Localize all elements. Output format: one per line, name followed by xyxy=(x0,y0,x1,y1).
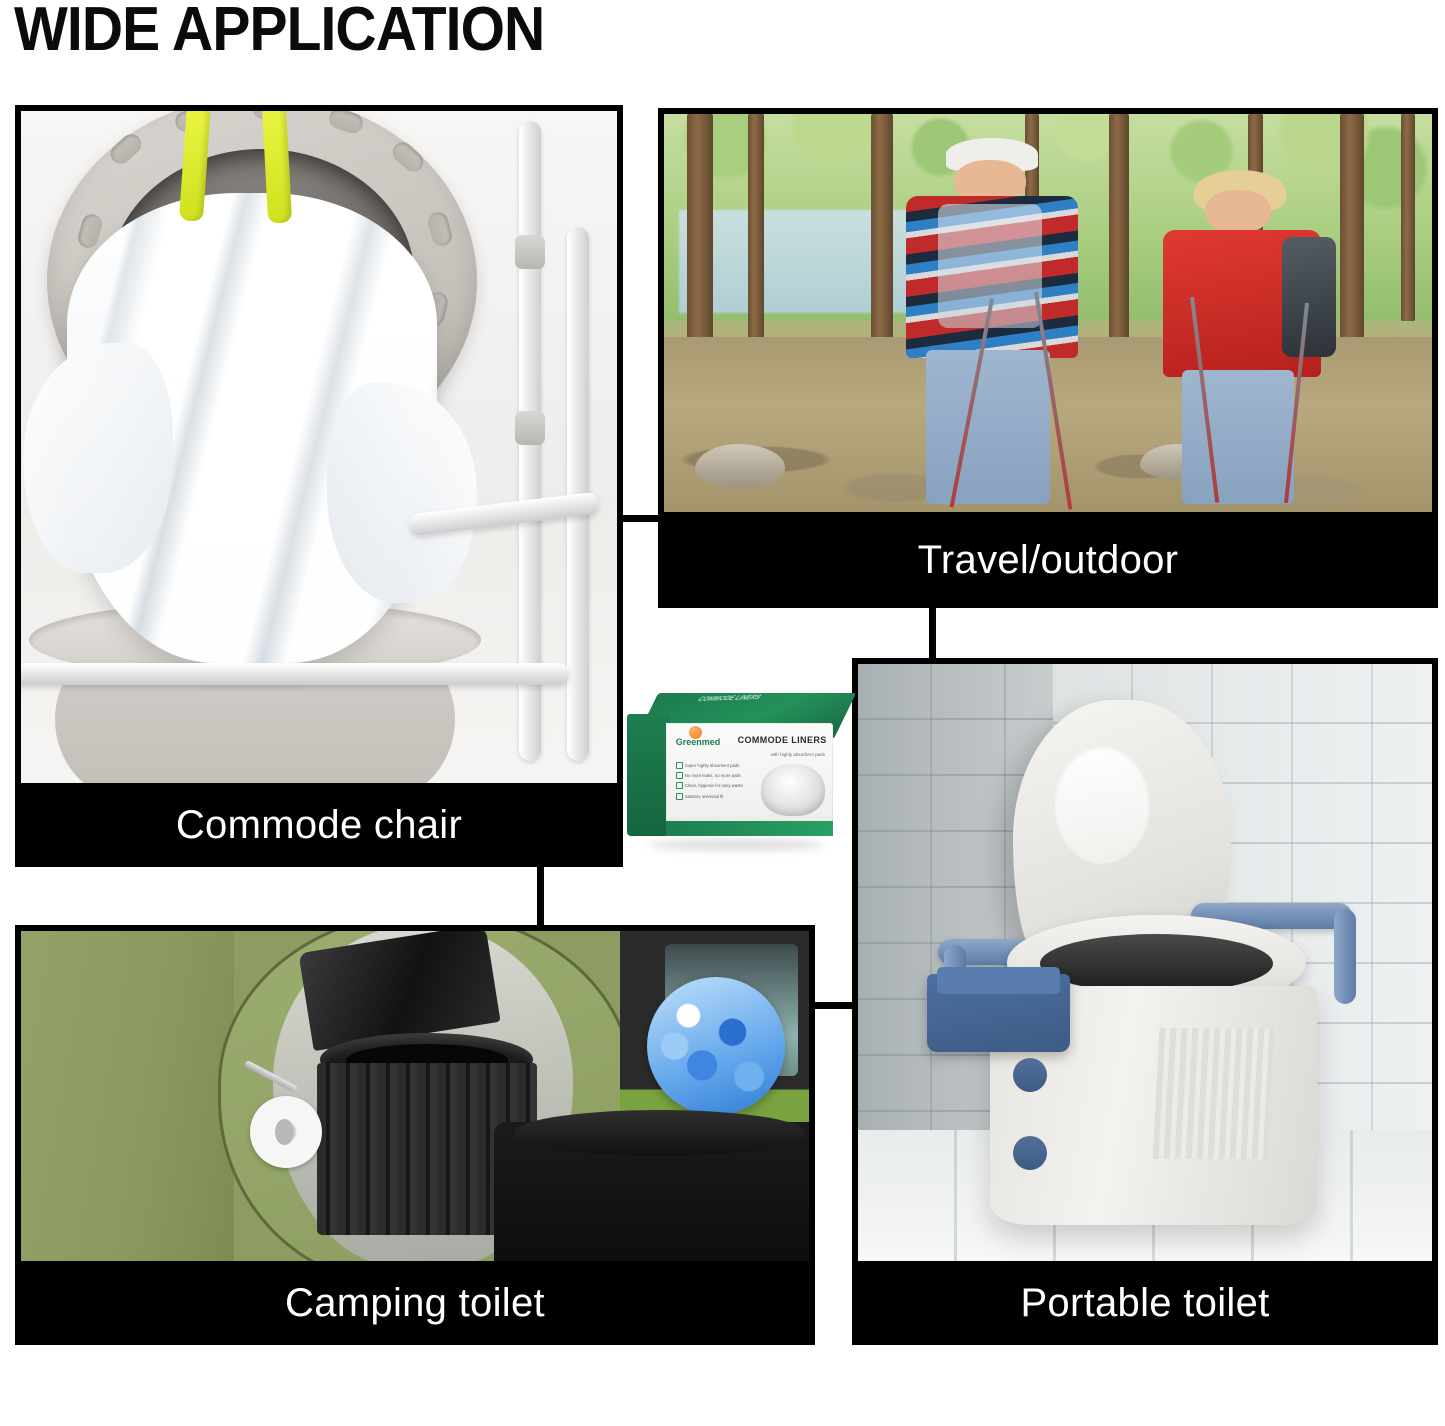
product-feature-item: No more leaks, no more pails xyxy=(676,772,756,779)
product-subtitle: with highly absorbent pads xyxy=(771,752,825,757)
privacy-tent-left-panel xyxy=(21,931,234,1261)
panel-travel-outdoor[interactable]: Travel/outdoor xyxy=(658,108,1438,608)
portable-toilet-armrest-right-post xyxy=(1334,909,1356,1005)
product-box-top-text: COMMODE LINERS xyxy=(694,694,762,703)
check-icon xyxy=(676,793,683,800)
hiker-trousers xyxy=(926,350,1050,504)
product-feature-item: Clean, hygienic for easy waste xyxy=(676,782,756,789)
camping-toilet-with-liner xyxy=(494,1122,809,1261)
hiker-male xyxy=(894,138,1094,504)
travel-outdoor-photo xyxy=(664,114,1432,512)
hiker-backpack xyxy=(1282,237,1336,357)
connector-commode-to-camping xyxy=(537,862,544,929)
chair-clip-upper xyxy=(515,235,545,269)
product-feature-list: Super highly absorbent pads No more leak… xyxy=(676,762,756,804)
connector-commode-to-travel xyxy=(617,515,663,522)
product-box-front-panel: Greenmed COMMODE LINERS with highly abso… xyxy=(666,723,834,835)
page-title: WIDE APPLICATION xyxy=(14,0,544,65)
toilet-paper-roll xyxy=(250,1096,322,1168)
tree-trunk xyxy=(748,114,764,369)
panel-commode-chair[interactable]: Commode chair xyxy=(15,105,623,867)
caption-commode-chair: Commode chair xyxy=(15,783,623,867)
connector-travel-to-portable xyxy=(929,604,936,662)
portable-toilet-latch-upper xyxy=(1013,1058,1047,1092)
tree-trunk xyxy=(1401,114,1415,321)
product-box-side-panel xyxy=(627,714,670,836)
tree-trunk xyxy=(871,114,893,361)
caption-camping-toilet: Camping toilet xyxy=(15,1261,815,1345)
tree-trunk xyxy=(1340,114,1364,369)
portable-toilet-latch-lower xyxy=(1013,1136,1047,1170)
portable-toilet-ribbing xyxy=(1153,1028,1275,1159)
product-feature-item: Super highly absorbent pads xyxy=(676,762,756,769)
camping-toilet-photo xyxy=(21,931,809,1261)
commode-liner-bag xyxy=(67,193,437,663)
panel-camping-toilet[interactable]: Camping toilet xyxy=(15,925,815,1345)
chair-front-rail xyxy=(21,663,569,685)
infographic-stage: WIDE APPLICATION xyxy=(0,0,1445,1426)
trail-rock xyxy=(695,444,785,488)
caption-portable-toilet: Portable toilet xyxy=(852,1261,1438,1345)
brand-logo: Greenmed xyxy=(676,737,721,747)
product-box-shadow xyxy=(649,839,825,851)
hiker-jeans xyxy=(1182,370,1293,504)
product-pad-illustration xyxy=(761,764,825,816)
product-feature-item: Sanitary universal fit xyxy=(676,793,756,800)
check-icon xyxy=(676,762,683,769)
check-icon xyxy=(676,772,683,779)
hiker-head xyxy=(1205,190,1270,233)
check-icon xyxy=(676,782,683,789)
tree-trunk xyxy=(1109,114,1129,353)
caption-travel-outdoor: Travel/outdoor xyxy=(658,512,1438,608)
commode-chair-photo xyxy=(21,111,617,783)
chair-clip-lower xyxy=(515,411,545,445)
portable-toilet-photo xyxy=(858,664,1432,1261)
product-box[interactable]: COMMODE LINERS Greenmed COMMODE LINERS w… xyxy=(627,693,842,845)
gel-crystals-inset xyxy=(647,977,785,1115)
product-title: COMMODE LINERS xyxy=(738,735,827,745)
portable-toilet-storage-basket xyxy=(927,974,1071,1052)
connector-camping-to-portable xyxy=(810,1002,857,1009)
hiker-female xyxy=(1148,170,1340,504)
panel-portable-toilet[interactable]: Portable toilet xyxy=(852,658,1438,1345)
product-count-label: 60 BAGS + 60 PADS xyxy=(679,829,728,834)
